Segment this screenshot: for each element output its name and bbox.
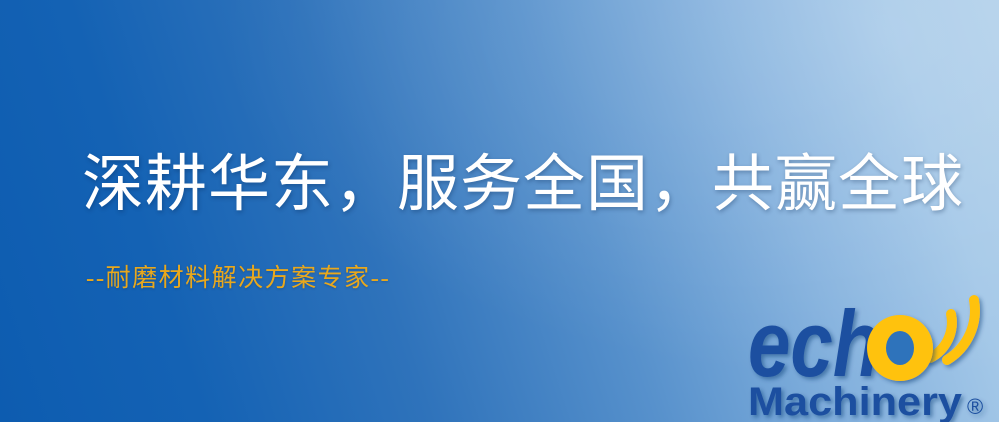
- banner-headline: 深耕华东，服务全国，共赢全球: [82, 154, 964, 216]
- logo-tagline: Machinery: [748, 380, 963, 422]
- promo-banner: 深耕华东，服务全国，共赢全球 --耐磨材料解决方案专家-- echo: [0, 0, 999, 422]
- banner-subheadline: --耐磨材料解决方案专家--: [86, 266, 390, 291]
- logo-registered-mark: ®: [967, 394, 983, 419]
- echo-waves-icon: [930, 300, 975, 360]
- logo-o-glyph: [867, 315, 933, 381]
- echo-machinery-logo: echo Machinery ®: [748, 292, 999, 422]
